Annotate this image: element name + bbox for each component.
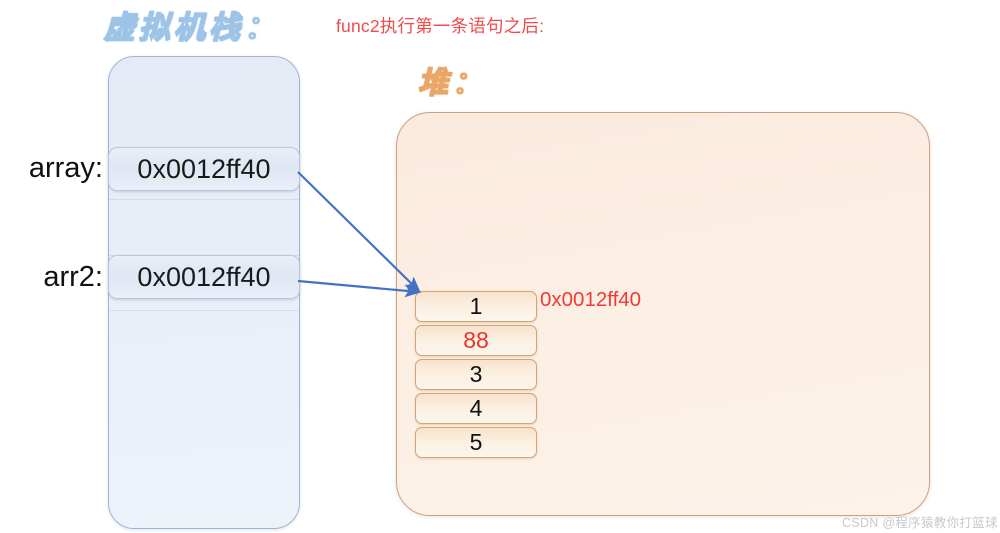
diagram-canvas: 虚拟机栈： func2执行第一条语句之后: 堆： array: arr2: 0x… bbox=[0, 0, 1000, 533]
watermark: CSDN @程序猿教你打篮球 bbox=[842, 512, 998, 531]
stack-label-array: array: bbox=[5, 152, 103, 185]
stack-separator bbox=[109, 310, 299, 311]
stack-label-arr2: arr2: bbox=[5, 261, 103, 294]
stack-cell-array: 0x0012ff40 bbox=[108, 147, 300, 191]
heap-array-cell-modified: 88 bbox=[415, 325, 537, 356]
heap-array-cell: 3 bbox=[415, 359, 537, 390]
heap-address-label: 0x0012ff40 bbox=[540, 288, 641, 312]
heap-title: 堆： bbox=[418, 58, 486, 102]
execution-note: func2执行第一条语句之后: bbox=[336, 13, 544, 38]
heap-array-cell: 1 bbox=[415, 291, 537, 322]
stack-cell-arr2: 0x0012ff40 bbox=[108, 255, 300, 299]
stack-title: 虚拟机栈： bbox=[104, 2, 279, 47]
heap-array-cell: 5 bbox=[415, 427, 537, 458]
heap-array-cell: 4 bbox=[415, 393, 537, 424]
stack-separator bbox=[109, 199, 299, 200]
